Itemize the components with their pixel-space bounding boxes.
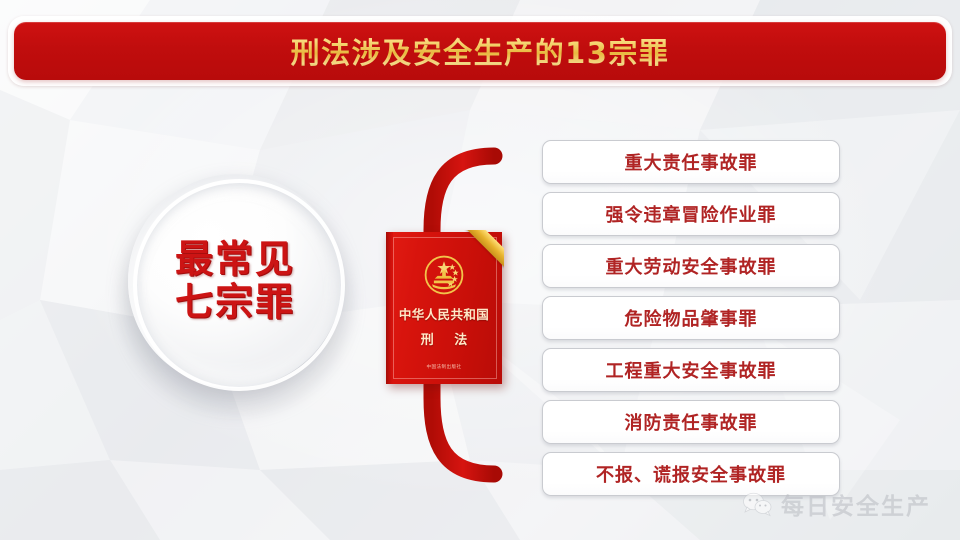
- title-banner: 刑法涉及安全生产的13宗罪: [14, 22, 946, 80]
- list-item-label: 重大责任事故罪: [625, 149, 758, 175]
- list-item[interactable]: 危险物品肇事罪: [542, 296, 840, 340]
- list-item-label: 不报、谎报安全事故罪: [596, 461, 786, 487]
- list-item[interactable]: 强令违章冒险作业罪: [542, 192, 840, 236]
- book-title-line-1: 中华人民共和国: [386, 304, 502, 323]
- book-title: 中华人民共和国 刑 法: [386, 304, 502, 348]
- book-cover: 中华人民共和国 刑 法 中国法制出版社: [386, 232, 502, 384]
- book-corner-ribbon-icon: [464, 230, 504, 270]
- crime-list: 重大责任事故罪 强令违章冒险作业罪 重大劳动安全事故罪 危险物品肇事罪 工程重大…: [542, 140, 840, 504]
- criminal-law-book: 中华人民共和国 刑 法 中国法制出版社: [386, 232, 502, 384]
- page-title: 刑法涉及安全生产的13宗罪: [291, 30, 670, 72]
- national-emblem-icon: [421, 252, 467, 298]
- watermark-text: 每日安全生产: [781, 487, 931, 521]
- list-item[interactable]: 重大劳动安全事故罪: [542, 244, 840, 288]
- list-item-label: 工程重大安全事故罪: [606, 357, 777, 383]
- list-item-label: 强令违章冒险作业罪: [606, 201, 777, 227]
- list-item-label: 重大劳动安全事故罪: [606, 253, 777, 279]
- circle-line-1: 最常见: [175, 238, 295, 281]
- book-publisher: 中国法制出版社: [386, 364, 502, 370]
- circle-line-2: 七宗罪: [175, 281, 295, 324]
- wechat-logo-icon: [742, 491, 772, 517]
- list-item[interactable]: 工程重大安全事故罪: [542, 348, 840, 392]
- list-item-label: 危险物品肇事罪: [625, 305, 758, 331]
- book-title-line-2: 刑 法: [386, 329, 502, 348]
- most-common-circle: 最常见 七宗罪: [128, 174, 342, 388]
- list-item[interactable]: 消防责任事故罪: [542, 400, 840, 444]
- watermark: 每日安全生产: [742, 487, 931, 521]
- list-item-label: 消防责任事故罪: [625, 409, 758, 435]
- list-item[interactable]: 重大责任事故罪: [542, 140, 840, 184]
- slide-canvas: 刑法涉及安全生产的13宗罪 最常见 七宗罪: [0, 0, 960, 540]
